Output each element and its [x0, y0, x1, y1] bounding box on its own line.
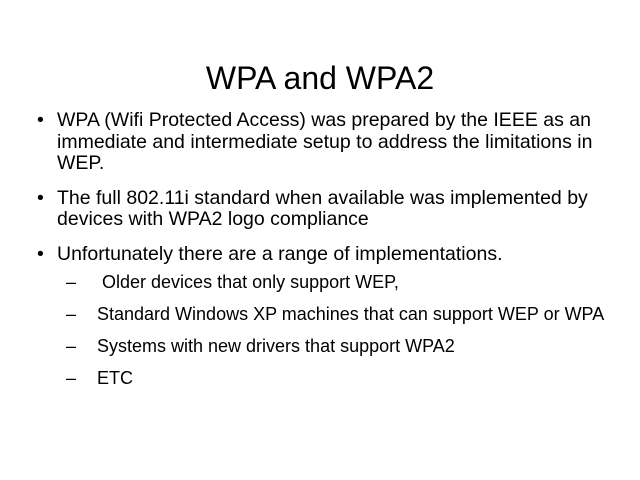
list-item: – ETC: [66, 368, 614, 388]
slide-body: • WPA (Wifi Protected Access) was prepar…: [36, 110, 614, 401]
list-item-text: Older devices that only support WEP,: [97, 272, 399, 292]
bullet-dot-icon: •: [37, 110, 44, 132]
presentation-slide: WPA and WPA2 • WPA (Wifi Protected Acces…: [0, 0, 640, 480]
bullet-dash-icon: –: [66, 368, 76, 388]
bullet-dash-icon: –: [66, 336, 76, 356]
sub-bullet-container: – Older devices that only support WEP, –…: [66, 272, 614, 388]
page-title: WPA and WPA2: [0, 59, 640, 97]
bullet-list-level1: • WPA (Wifi Protected Access) was prepar…: [36, 110, 614, 388]
bullet-dash-icon: –: [66, 304, 76, 324]
list-item-text: The full 802.11i standard when available…: [57, 187, 593, 231]
list-item: • Unfortunately there are a range of imp…: [36, 244, 614, 389]
list-item-text: WPA (Wifi Protected Access) was prepared…: [57, 109, 598, 174]
list-item: – Standard Windows XP machines that can …: [66, 304, 614, 324]
list-item-text: Systems with new drivers that support WP…: [97, 336, 455, 356]
list-item-text: ETC: [97, 368, 133, 388]
list-item: – Systems with new drivers that support …: [66, 336, 614, 356]
list-item: – Older devices that only support WEP,: [66, 272, 614, 292]
list-item-text: Standard Windows XP machines that can su…: [97, 304, 604, 324]
list-item-text: Unfortunately there are a range of imple…: [57, 243, 503, 265]
bullet-dash-icon: –: [66, 272, 76, 292]
bullet-list-level2: – Older devices that only support WEP, –…: [66, 272, 614, 388]
list-item: • The full 802.11i standard when availab…: [36, 188, 614, 231]
list-item: • WPA (Wifi Protected Access) was prepar…: [36, 110, 614, 175]
bullet-dot-icon: •: [37, 244, 44, 266]
bullet-dot-icon: •: [37, 188, 44, 210]
